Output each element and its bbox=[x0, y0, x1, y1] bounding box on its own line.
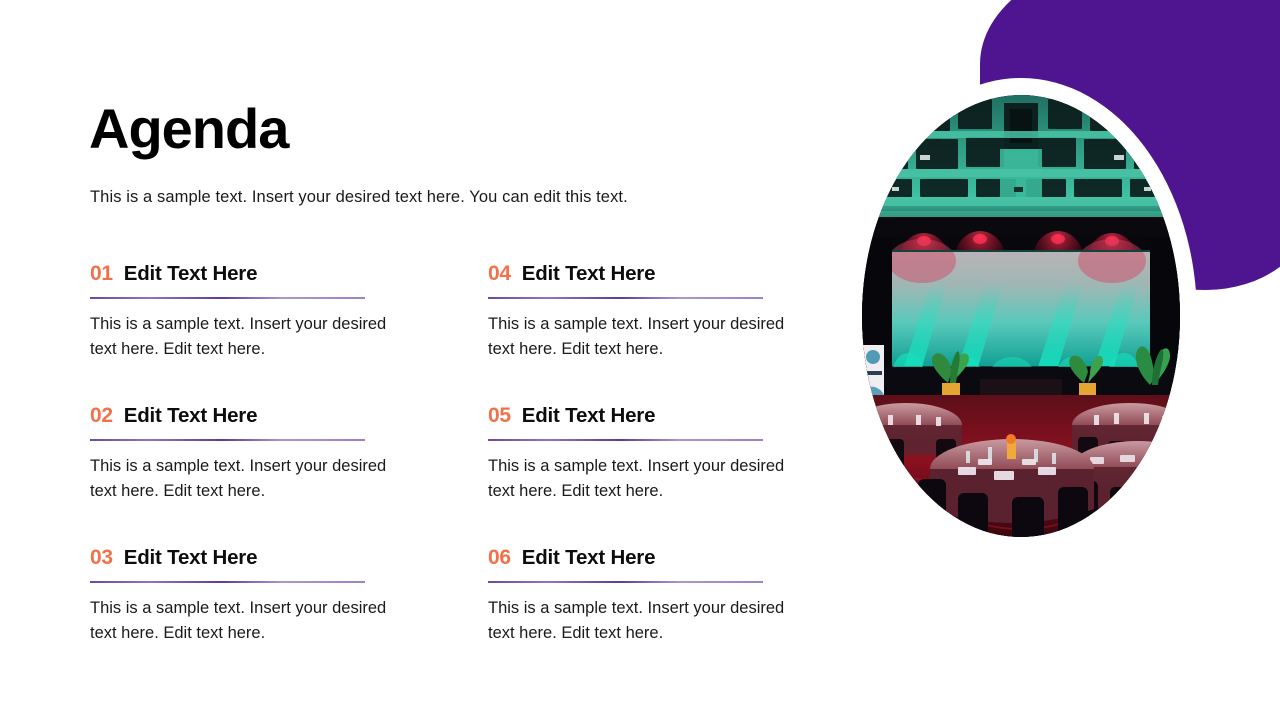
agenda-item-heading: 06 Edit Text Here bbox=[488, 546, 788, 574]
agenda-item-heading: 04 Edit Text Here bbox=[488, 262, 788, 290]
agenda-item-number: 04 bbox=[488, 262, 511, 286]
agenda-item-divider bbox=[90, 297, 365, 299]
agenda-item-title: Edit Text Here bbox=[124, 262, 258, 286]
agenda-item-heading: 03 Edit Text Here bbox=[90, 546, 390, 574]
agenda-item-title: Edit Text Here bbox=[522, 262, 656, 286]
agenda-item-body: This is a sample text. Insert your desir… bbox=[90, 454, 390, 505]
agenda-item-divider bbox=[90, 439, 365, 441]
slide-subtitle: This is a sample text. Insert your desir… bbox=[90, 188, 628, 207]
agenda-item-number: 06 bbox=[488, 546, 511, 570]
slide-content: Agenda This is a sample text. Insert you… bbox=[0, 0, 830, 720]
agenda-item-01[interactable]: 01 Edit Text Here This is a sample text.… bbox=[90, 262, 390, 404]
agenda-item-05[interactable]: 05 Edit Text Here This is a sample text.… bbox=[488, 404, 788, 546]
agenda-item-heading: 01 Edit Text Here bbox=[90, 262, 390, 290]
agenda-item-body: This is a sample text. Insert your desir… bbox=[488, 596, 788, 647]
agenda-item-title: Edit Text Here bbox=[124, 546, 258, 570]
agenda-item-title: Edit Text Here bbox=[522, 546, 656, 570]
agenda-item-number: 03 bbox=[90, 546, 113, 570]
agenda-item-divider bbox=[488, 439, 763, 441]
agenda-grid: 01 Edit Text Here This is a sample text.… bbox=[90, 262, 790, 688]
event-ballroom-photo bbox=[862, 95, 1180, 537]
agenda-item-body: This is a sample text. Insert your desir… bbox=[90, 312, 390, 363]
stage-screen bbox=[888, 239, 1152, 367]
agenda-item-04[interactable]: 04 Edit Text Here This is a sample text.… bbox=[488, 262, 788, 404]
agenda-item-divider bbox=[488, 581, 763, 583]
agenda-item-divider bbox=[488, 297, 763, 299]
agenda-item-02[interactable]: 02 Edit Text Here This is a sample text.… bbox=[90, 404, 390, 546]
agenda-item-number: 01 bbox=[90, 262, 113, 286]
agenda-item-heading: 02 Edit Text Here bbox=[90, 404, 390, 432]
agenda-item-body: This is a sample text. Insert your desir… bbox=[488, 312, 788, 363]
agenda-item-divider bbox=[90, 581, 365, 583]
agenda-item-number: 05 bbox=[488, 404, 511, 428]
agenda-item-number: 02 bbox=[90, 404, 113, 428]
agenda-item-title: Edit Text Here bbox=[124, 404, 258, 428]
agenda-item-03[interactable]: 03 Edit Text Here This is a sample text.… bbox=[90, 546, 390, 688]
agenda-item-title: Edit Text Here bbox=[522, 404, 656, 428]
agenda-item-06[interactable]: 06 Edit Text Here This is a sample text.… bbox=[488, 546, 788, 688]
page-title: Agenda bbox=[89, 101, 288, 157]
agenda-item-body: This is a sample text. Insert your desir… bbox=[488, 454, 788, 505]
agenda-item-heading: 05 Edit Text Here bbox=[488, 404, 788, 432]
agenda-item-body: This is a sample text. Insert your desir… bbox=[90, 596, 390, 647]
